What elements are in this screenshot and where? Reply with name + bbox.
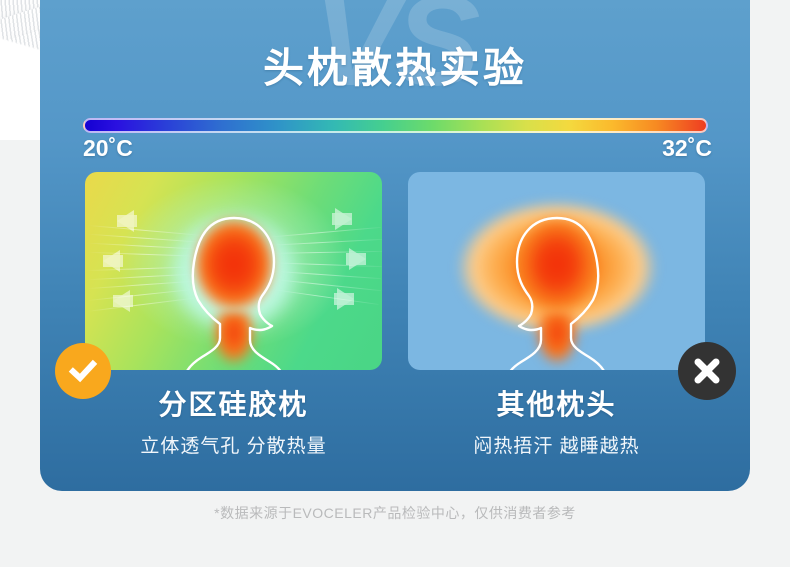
temperature-gradient-bar [83,118,708,133]
temperature-scale: 20˚C 32˚C [83,118,708,133]
heat-dissipation-experiment-card: VS 头枕散热实验 20˚C 32˚C [40,0,750,491]
thermal-panel-silicone-pillow [85,172,382,370]
caption-subtitle-right: 闷热捂汗 越睡越热 [408,431,705,458]
caption-title-left: 分区硅胶枕 [85,383,382,423]
thermal-panel-other-pillow [408,172,705,370]
caption-title-right: 其他枕头 [408,383,705,423]
airflow-arrow-right [335,208,352,230]
temperature-max-label: 32˚C [662,135,712,162]
data-source-footnote: *数据来源于EVOCELER产品检验中心，仅供消费者参考 [0,503,790,523]
caption-subtitle-left: 立体透气孔 分散热量 [85,431,382,458]
airflow-arrow-right [349,248,366,270]
page-title: 头枕散热实验 [40,34,750,94]
airflow-arrow-left [103,250,120,272]
caption-other-pillow: 其他枕头 闷热捂汗 越睡越热 [408,383,705,458]
airflow-arrow-left [117,210,134,232]
airflow-arrow-left [113,290,130,312]
airflow-arrow-right [337,288,354,310]
caption-silicone-pillow: 分区硅胶枕 立体透气孔 分散热量 [85,383,382,458]
temperature-min-label: 20˚C [83,135,133,162]
head-silhouette [505,216,609,370]
head-silhouette [182,216,286,370]
